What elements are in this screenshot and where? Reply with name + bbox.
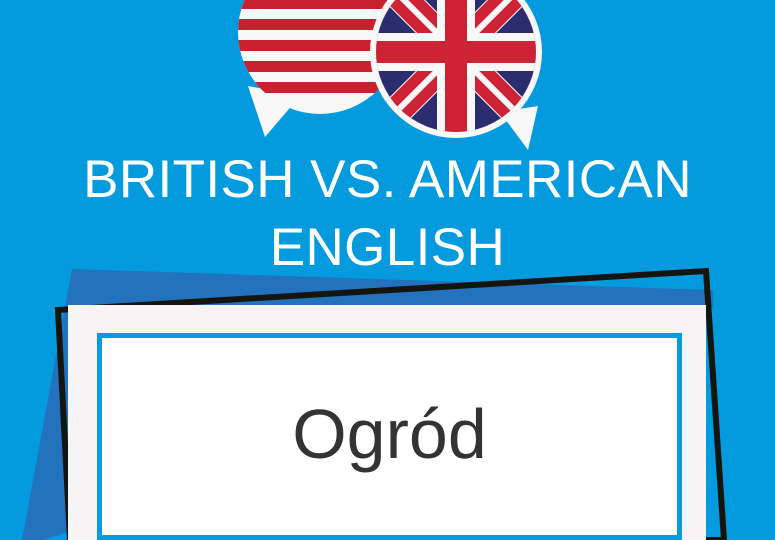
flag-bubbles-graphic <box>0 0 775 150</box>
word-card: Ogród <box>68 305 706 540</box>
vocabulary-word: Ogród <box>102 395 677 473</box>
slide-canvas: BRITISH VS. AMERICAN ENGLISH Ogród <box>0 0 775 540</box>
word-card-inner-panel: Ogród <box>97 333 682 540</box>
uk-flag-speech-bubble <box>370 0 542 150</box>
